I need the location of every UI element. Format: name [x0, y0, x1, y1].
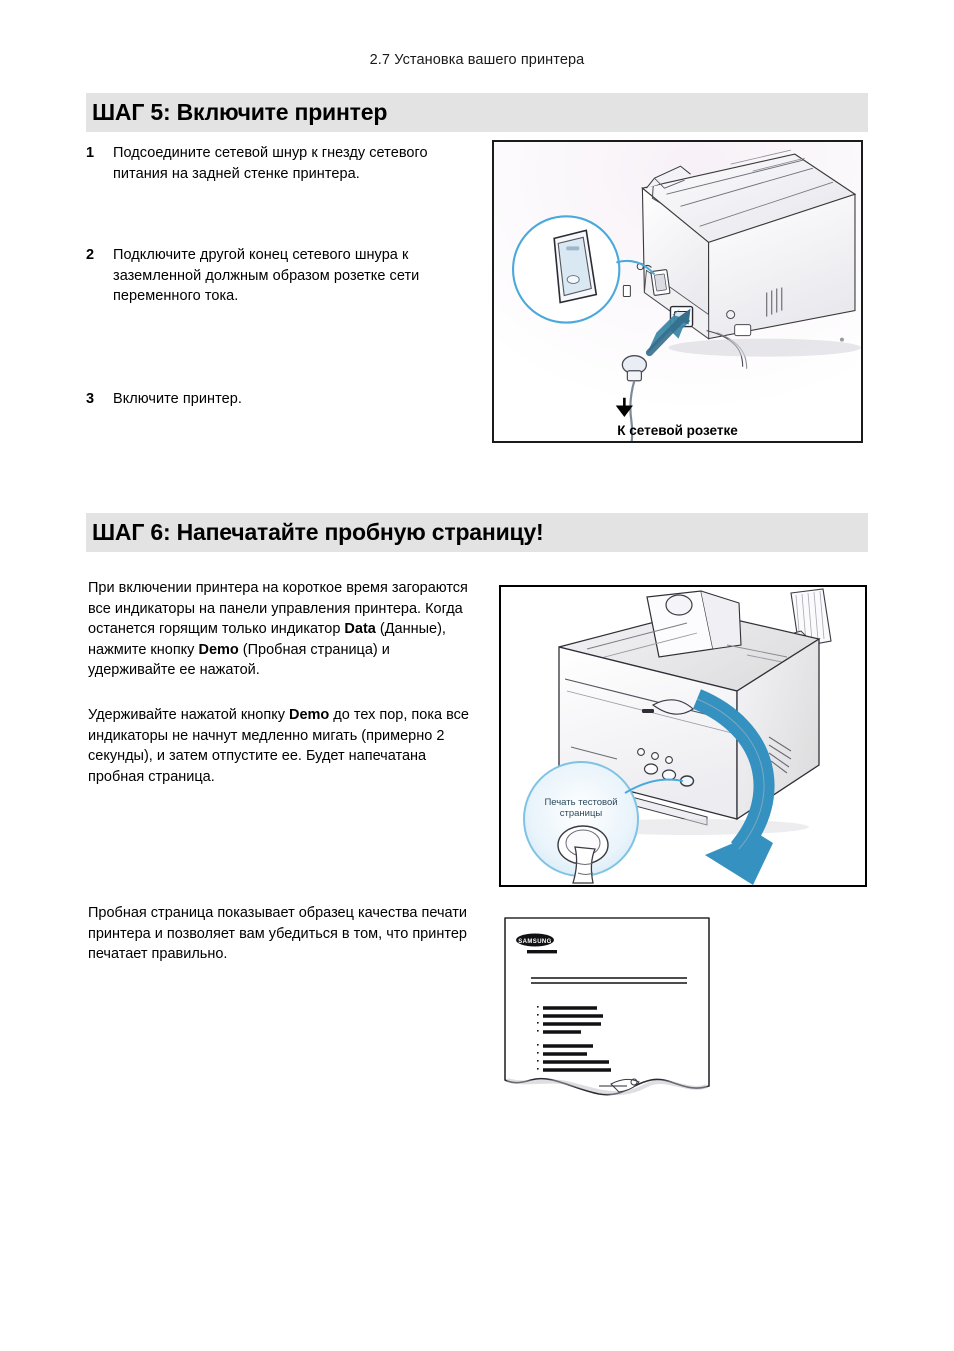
paragraph-hold-demo: Удерживайте нажатой кнопку Demo до тех п… — [88, 705, 478, 787]
section-bar-step6: ШАГ 6: Напечатайте пробную страницу! — [86, 513, 868, 552]
figure-caption-to-wall-outlet: К сетевой розетке — [617, 423, 738, 438]
figure-printed-test-page: SAMSUNG — [499, 908, 721, 1098]
step-item: 1 Подсоедините сетевой шнур к гнезду сет… — [86, 143, 481, 184]
step-text: Подключите другой конец сетевого шнура к… — [113, 245, 481, 307]
section-bar-step5: ШАГ 5: Включите принтер — [86, 93, 868, 132]
paragraph-result: Пробная страница показывает образец каче… — [88, 903, 478, 965]
hold-bold-demo: Demo — [289, 707, 329, 723]
test-page-illustration: SAMSUNG — [499, 908, 721, 1098]
step-number: 3 — [86, 389, 113, 410]
step-number: 1 — [86, 143, 113, 164]
step-item: 2 Подключите другой конец сетевого шнура… — [86, 245, 481, 307]
paragraph-intro: При включении принтера на короткое время… — [88, 578, 478, 681]
section-title-step5: ШАГ 5: Включите принтер — [86, 93, 868, 132]
step-item: 3 Включите принтер. — [86, 389, 481, 410]
result-text: Пробная страница показывает образец каче… — [88, 903, 478, 965]
samsung-logo-text: SAMSUNG — [518, 939, 551, 945]
figure-printer-rear-power-connection: К сетевой розетке — [492, 140, 863, 443]
hold-text-part1: Удерживайте нажатой кнопку — [88, 707, 289, 723]
step-text: Включите принтер. — [113, 389, 242, 410]
intro-bold-demo: Demo — [198, 642, 238, 658]
callout-label-line1: Печать тестовой — [544, 797, 617, 808]
section-title-step6: ШАГ 6: Напечатайте пробную страницу! — [86, 513, 868, 552]
figure-printer-front-demo-button: Печать тестовой страницы — [499, 585, 867, 887]
intro-bold-data: Data — [344, 621, 375, 637]
printer-rear-illustration: К сетевой розетке — [494, 142, 861, 441]
running-header: 2.7 Установка вашего принтера — [0, 52, 954, 68]
step5-instruction-list: 1 Подсоедините сетевой шнур к гнезду сет… — [86, 143, 481, 409]
step-number: 2 — [86, 245, 113, 266]
printer-front-illustration: Печать тестовой страницы — [501, 587, 865, 885]
callout-label-line2: страницы — [560, 808, 603, 819]
step-text: Подсоедините сетевой шнур к гнезду сетев… — [113, 143, 481, 184]
